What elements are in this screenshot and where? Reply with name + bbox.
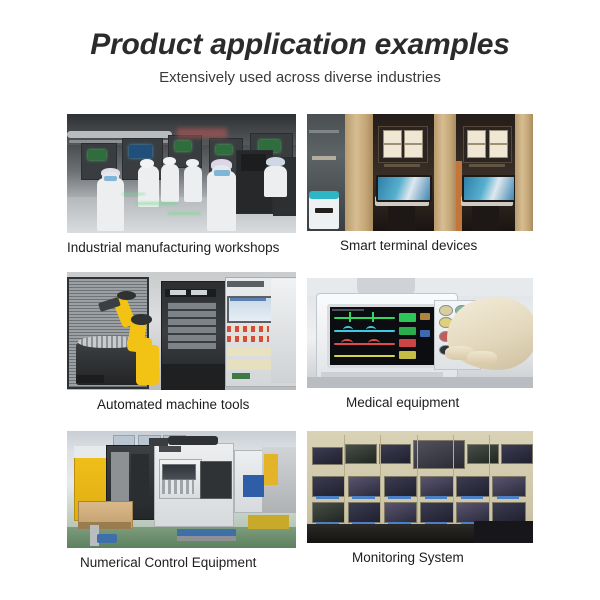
caption-medical-equipment: Medical equipment (346, 395, 459, 411)
photo-industrial-manufacturing-workshops (67, 114, 296, 233)
photo-monitoring-system (307, 431, 533, 543)
caption-industrial-manufacturing-workshops: Industrial manufacturing workshops (67, 240, 279, 256)
caption-automated-machine-tools: Automated machine tools (97, 397, 249, 413)
product-application-page: Product application examples Extensively… (0, 0, 600, 600)
photo-automated-machine-tools (67, 272, 296, 390)
photo-smart-terminal-devices (307, 114, 533, 231)
photo-numerical-control-equipment (67, 431, 296, 548)
photo-medical-equipment (307, 278, 533, 388)
caption-smart-terminal-devices: Smart terminal devices (340, 238, 477, 254)
caption-monitoring-system: Monitoring System (352, 550, 464, 566)
caption-numerical-control-equipment: Numerical Control Equipment (80, 555, 256, 571)
application-gallery-grid: Industrial manufacturing workshops (0, 0, 600, 600)
